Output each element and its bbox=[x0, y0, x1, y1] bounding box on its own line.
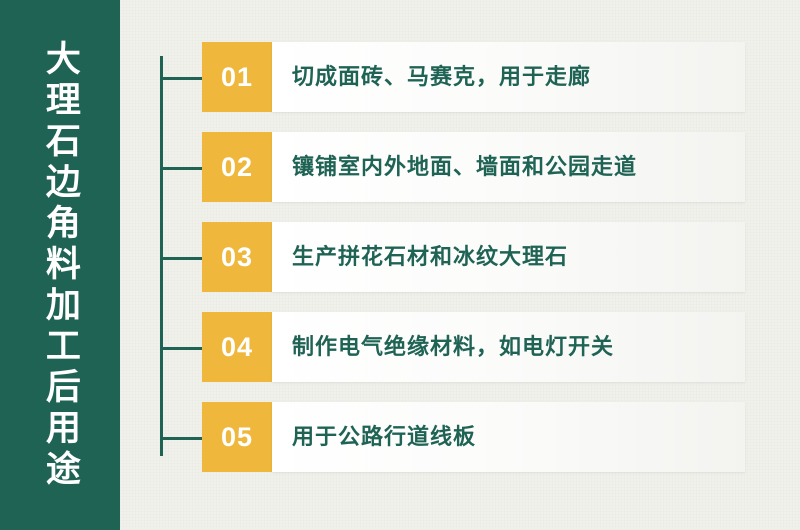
connector-line-icon bbox=[160, 437, 202, 440]
item-text-card: 镶铺室内外地面、墙面和公园走道 bbox=[272, 132, 745, 202]
list-item[interactable]: 04 制作电气绝缘材料，如电灯开关 bbox=[160, 312, 780, 382]
item-text-card: 生产拼花石材和冰纹大理石 bbox=[272, 222, 745, 292]
item-label: 用于公路行道线板 bbox=[292, 424, 476, 450]
item-label: 制作电气绝缘材料，如电灯开关 bbox=[292, 334, 614, 360]
item-number-badge: 02 bbox=[202, 132, 272, 202]
item-number-badge: 04 bbox=[202, 312, 272, 382]
side-panel-title: 大理石边角料加工后用途 bbox=[41, 40, 79, 491]
list-item[interactable]: 01 切成面砖、马赛克，用于走廊 bbox=[160, 42, 780, 112]
connector-line-icon bbox=[160, 347, 202, 350]
list-item[interactable]: 02 镶铺室内外地面、墙面和公园走道 bbox=[160, 132, 780, 202]
item-text-card: 制作电气绝缘材料，如电灯开关 bbox=[272, 312, 745, 382]
connector-line-icon bbox=[160, 77, 202, 80]
item-number-badge: 05 bbox=[202, 402, 272, 472]
item-number-badge: 03 bbox=[202, 222, 272, 292]
list-item[interactable]: 05 用于公路行道线板 bbox=[160, 402, 780, 472]
connector-line-icon bbox=[160, 257, 202, 260]
list-item[interactable]: 03 生产拼花石材和冰纹大理石 bbox=[160, 222, 780, 292]
infographic-page: 大理石边角料加工后用途 01 切成面砖、马赛克，用于走廊 02 镶铺室内外地面、… bbox=[0, 0, 800, 530]
items-list: 01 切成面砖、马赛克，用于走廊 02 镶铺室内外地面、墙面和公园走道 03 生… bbox=[160, 42, 780, 492]
item-text-card: 用于公路行道线板 bbox=[272, 402, 745, 472]
item-text-card: 切成面砖、马赛克，用于走廊 bbox=[272, 42, 745, 112]
item-label: 切成面砖、马赛克，用于走廊 bbox=[292, 64, 591, 90]
item-label: 生产拼花石材和冰纹大理石 bbox=[292, 244, 568, 270]
item-number-badge: 01 bbox=[202, 42, 272, 112]
connector-line-icon bbox=[160, 167, 202, 170]
side-panel: 大理石边角料加工后用途 bbox=[0, 0, 120, 530]
item-label: 镶铺室内外地面、墙面和公园走道 bbox=[292, 154, 637, 180]
